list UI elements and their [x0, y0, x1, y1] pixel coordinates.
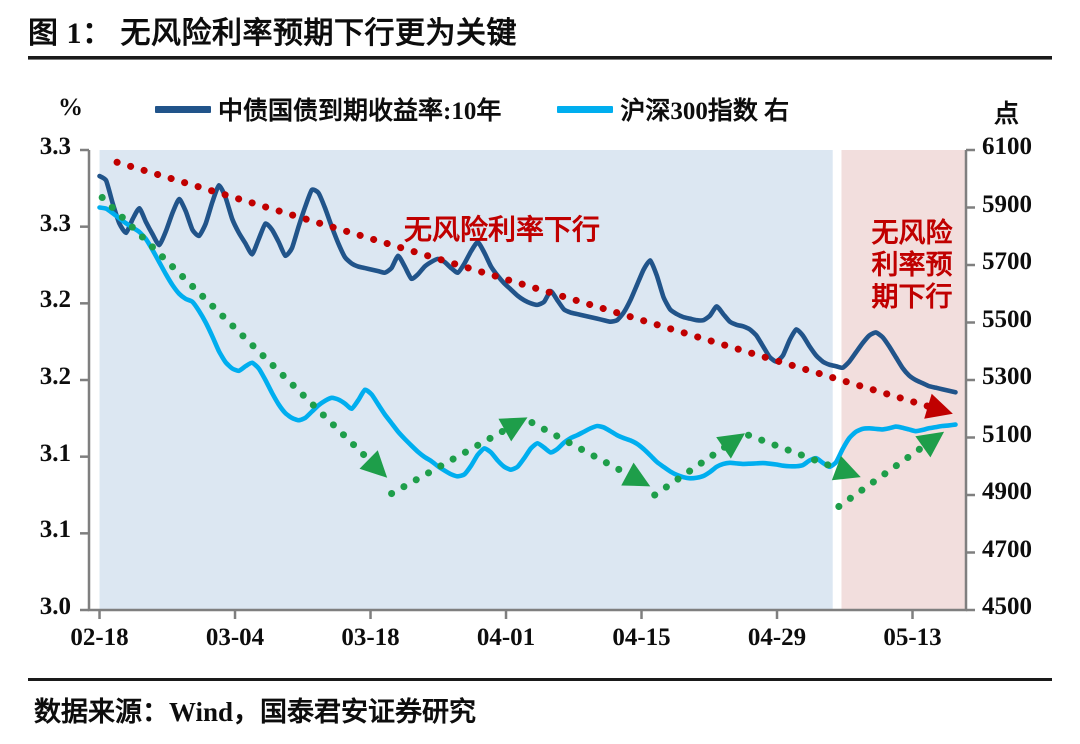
right-axis-tick-label: 4900: [982, 478, 1062, 506]
legend-swatch-index: [557, 106, 613, 113]
left-axis-tick-label: 3.1: [11, 440, 71, 468]
x-axis-tick-label: 05-13: [858, 624, 968, 652]
page-title: 图 1： 无风险利率预期下行更为关键: [28, 8, 517, 52]
x-axis-tick-label: 03-18: [316, 624, 426, 652]
legend-label-index: 沪深300指数 右: [620, 91, 789, 127]
right-axis-tick-label: 5900: [982, 191, 1062, 219]
chart-area: % 点 中债国债到期收益率:10年 沪深300指数 右 无风险利率下行 无风险 …: [0, 62, 1080, 668]
x-axis-tick-label: 02-18: [45, 624, 155, 652]
right-axis-tick-label: 5100: [982, 421, 1062, 449]
right-axis-unit-label: 点: [994, 94, 1019, 130]
x-axis-tick-label: 04-01: [451, 624, 561, 652]
right-axis-tick-label: 6100: [982, 133, 1062, 161]
x-axis-tick-label: 03-04: [180, 624, 290, 652]
left-axis-tick-label: 3.2: [11, 363, 71, 391]
legend-entry-index: 沪深300指数 右: [557, 91, 789, 127]
right-axis-tick-label: 4500: [982, 593, 1062, 621]
right-axis-tick-label: 5300: [982, 363, 1062, 391]
chart-legend: 中债国债到期收益率:10年 沪深300指数 右: [155, 92, 955, 126]
left-axis-tick-label: 3.1: [11, 516, 71, 544]
x-axis-tick-label: 04-29: [722, 624, 832, 652]
left-axis-tick-label: 3.3: [11, 133, 71, 161]
footer-divider: [28, 678, 1052, 681]
figure-root: 图 1： 无风险利率预期下行更为关键 % 点 中债国债到期收益率:10年 沪深3…: [0, 0, 1080, 744]
legend-swatch-yield: [155, 106, 211, 113]
x-axis-tick-label: 04-15: [587, 624, 697, 652]
title-divider: [28, 56, 1052, 60]
left-axis-unit-label: %: [58, 94, 83, 122]
annotation-risk-free-rate-decline: 无风险利率下行: [404, 214, 600, 247]
title-bar: 图 1： 无风险利率预期下行更为关键: [28, 4, 1052, 56]
legend-entry-yield: 中债国债到期收益率:10年: [155, 91, 501, 127]
right-axis-tick-label: 5700: [982, 248, 1062, 276]
left-axis-tick-label: 3.0: [11, 593, 71, 621]
left-axis-tick-label: 3.3: [11, 210, 71, 238]
annotation-risk-free-rate-expected-decline: 无风险 利率预 期下行: [857, 218, 967, 314]
left-axis-tick-label: 3.2: [11, 286, 71, 314]
legend-label-yield: 中债国债到期收益率:10年: [218, 91, 501, 127]
source-note: 数据来源：Wind，国泰君安证券研究: [34, 690, 476, 729]
right-axis-tick-label: 5500: [982, 306, 1062, 334]
plot-canvas: [0, 62, 1080, 668]
right-axis-tick-label: 4700: [982, 536, 1062, 564]
